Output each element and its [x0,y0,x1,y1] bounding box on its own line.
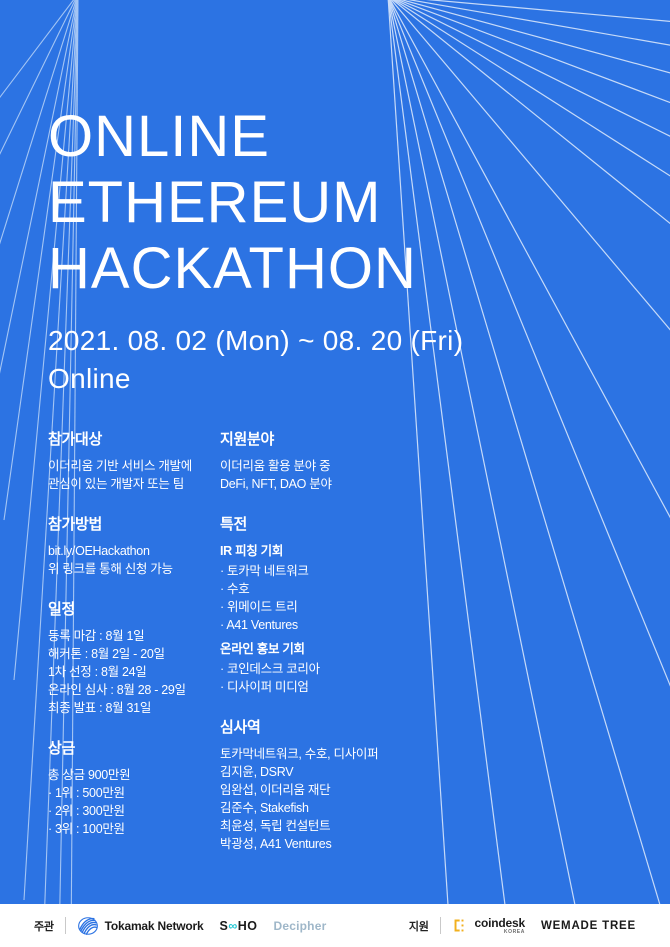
host-group: 주관 Tokamak Network S∞HO Decipher [34,915,326,937]
sponsor-label: 지원 [409,918,429,934]
sooho-s: S [219,919,228,933]
benefit-item: · 토카막 네트워크 [220,562,435,580]
logo-coindesk[interactable]: coindesk KOREA [452,917,525,935]
judge-entry: 김지윤, DSRV [220,763,435,781]
tokamak-swirl-icon [77,915,99,937]
poster-canvas: ONLINE ETHEREUM HACKATHON 2021. 08. 02 (… [0,0,670,947]
judge-entry: 임완섭, 이더리움 재단 [220,781,435,799]
judge-entry: 박광성, A41 Ventures [220,835,435,853]
sooho-infinity-icon: ∞ [228,919,237,933]
title-line-3: HACKATHON [48,236,417,302]
section-heading: 일정 [48,600,213,620]
section-heading: 참가방법 [48,515,213,535]
footer-bar: 주관 Tokamak Network S∞HO Decipher [0,904,670,947]
title-line-1: ONLINE [48,104,417,170]
section-line: · 1위 : 500만원 [48,784,213,802]
logo-tokamak-network[interactable]: Tokamak Network [77,915,204,937]
section-participants: 참가대상 이더리움 기반 서비스 개발에 관심이 있는 개발자 또는 팀 [48,430,213,493]
sooho-ho: HO [238,919,258,933]
section-line: · 2위 : 300만원 [48,802,213,820]
poster-title: ONLINE ETHEREUM HACKATHON [48,104,417,302]
section-line: 1차 선정 : 8월 24일 [48,663,213,681]
section-line: 총 상금 900만원 [48,766,213,784]
benefit-item: · 수호 [220,580,435,598]
logo-sublabel: KOREA [504,930,525,935]
info-column-right: 지원분야 이더리움 활용 분야 중 DeFi, NFT, DAO 분야 특전 I… [220,430,435,853]
section-support-fields: 지원분야 이더리움 활용 분야 중 DeFi, NFT, DAO 분야 [220,430,435,493]
section-heading: 심사역 [220,718,435,738]
section-line: 등록 마감 : 8월 1일 [48,627,213,645]
logo-label: WEMADE TREE [541,920,636,932]
benefit-item: · 디사이퍼 미디엄 [220,678,435,696]
section-line: 관심이 있는 개발자 또는 팀 [48,475,213,493]
logo-label: Decipher [273,919,326,933]
logo-sooho[interactable]: S∞HO [219,919,257,933]
logo-wemade-tree[interactable]: WEMADE TREE [541,920,636,932]
apply-link[interactable]: bit.ly/OEHackathon [48,542,213,560]
section-heading: 상금 [48,739,213,759]
footer-divider [440,917,441,934]
section-heading: 지원분야 [220,430,435,450]
benefit-subheading: 온라인 홍보 기회 [220,640,435,658]
section-line: 온라인 심사 : 8월 28 - 29일 [48,681,213,699]
info-column-left: 참가대상 이더리움 기반 서비스 개발에 관심이 있는 개발자 또는 팀 참가방… [48,430,213,838]
logo-label: coindesk [475,917,525,929]
host-label: 주관 [34,918,54,934]
section-line: 위 링크를 통해 신청 가능 [48,560,213,578]
coindesk-bracket-icon [452,917,469,934]
judge-entry: 토카막네트워크, 수호, 디사이퍼 [220,745,435,763]
section-heading: 참가대상 [48,430,213,450]
logo-label: Tokamak Network [105,919,204,933]
section-heading: 특전 [220,515,435,535]
section-line: · 3위 : 100만원 [48,820,213,838]
benefit-item: · 코인데스크 코리아 [220,660,435,678]
section-how-to-apply: 참가방법 bit.ly/OEHackathon 위 링크를 통해 신청 가능 [48,515,213,578]
section-benefits: 특전 IR 피칭 기회 · 토카막 네트워크 · 수호 · 위메이드 트리 · … [220,515,435,696]
section-line: 최종 발표 : 8월 31일 [48,699,213,717]
section-prize: 상금 총 상금 900만원 · 1위 : 500만원 · 2위 : 300만원 … [48,739,213,838]
benefit-subheading: IR 피칭 기회 [220,542,435,560]
logo-decipher[interactable]: Decipher [273,919,326,933]
judge-entry: 김준수, Stakefish [220,799,435,817]
title-line-2: ETHEREUM [48,170,417,236]
sponsor-group: 지원 coindesk KOREA WEMADE TREE [409,917,636,935]
benefit-item: · A41 Ventures [220,616,435,634]
section-line: 이더리움 활용 분야 중 [220,457,435,475]
section-line: 이더리움 기반 서비스 개발에 [48,457,213,475]
logo-label: S∞HO [219,919,257,933]
footer-divider [65,917,66,934]
event-dates: 2021. 08. 02 (Mon) ~ 08. 20 (Fri) [48,322,463,360]
judge-entry: 최윤성, 독립 컨설턴트 [220,817,435,835]
section-line: DeFi, NFT, DAO 분야 [220,475,435,493]
section-judges: 심사역 토카막네트워크, 수호, 디사이퍼 김지윤, DSRV 임완섭, 이더리… [220,718,435,853]
benefit-item: · 위메이드 트리 [220,598,435,616]
section-line: 해커톤 : 8월 2일 - 20일 [48,645,213,663]
coindesk-wordmark: coindesk KOREA [475,917,525,935]
poster-subtitle: 2021. 08. 02 (Mon) ~ 08. 20 (Fri) Online [48,322,463,398]
event-location: Online [48,360,463,398]
section-schedule: 일정 등록 마감 : 8월 1일 해커톤 : 8월 2일 - 20일 1차 선정… [48,600,213,717]
